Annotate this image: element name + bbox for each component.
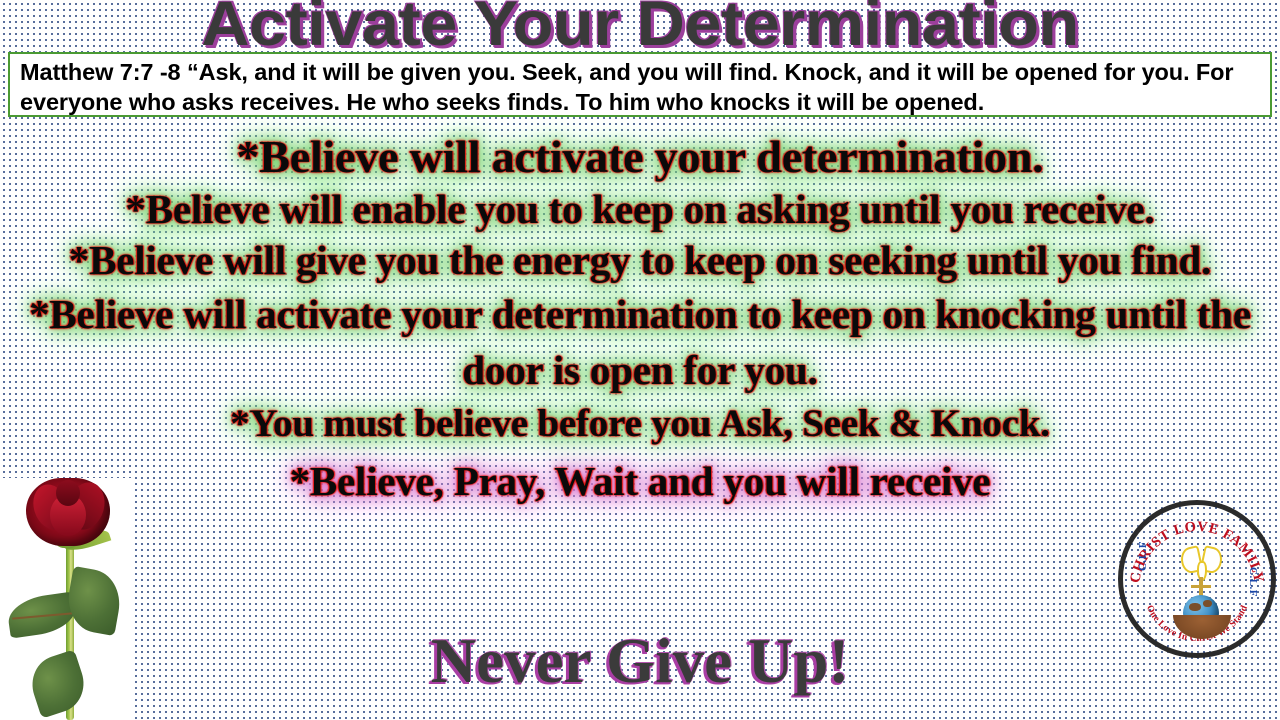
slide-canvas: Activate Your Determination Matthew 7:7 … (0, 0, 1280, 720)
bullet-line-6: *Believe, Pray, Wait and you will receiv… (0, 450, 1280, 512)
logo-inner: CHRIST LOVE FAMILY One Love In Christ We… (1123, 505, 1271, 653)
bullet-line-2: *Believe will enable you to keep on aski… (0, 184, 1280, 235)
rose-bloom (26, 478, 110, 546)
bullet-line-3: *Believe will give you the energy to kee… (0, 235, 1280, 286)
bullet-list: *Believe will activate your determinatio… (0, 130, 1280, 512)
bullet-line-5: *You must believe before you Ask, Seek &… (0, 398, 1280, 450)
closing-statement: Never Give Up! (0, 627, 1280, 695)
logo-abbr-left: C.L.F (1137, 541, 1149, 571)
bullet-line-1: *Believe will activate your determinatio… (0, 130, 1280, 184)
rose-petal (56, 480, 80, 506)
scripture-verse-text: Matthew 7:7 -8 “Ask, and it will be give… (20, 57, 1264, 117)
bullet-line-4: *Believe will activate your determinatio… (0, 286, 1280, 398)
rose-leaf-bottom (25, 649, 92, 718)
cross-bar-icon (1191, 585, 1211, 588)
logo-abbr-right: C.L.F (1247, 567, 1259, 597)
dove-icon (1181, 547, 1223, 581)
page-title: Activate Your Determination (0, 0, 1280, 54)
christ-love-family-logo: CHRIST LOVE FAMILY One Love In Christ We… (1118, 500, 1276, 658)
scripture-verse-box: Matthew 7:7 -8 “Ask, and it will be give… (8, 52, 1272, 117)
rose-image (0, 478, 132, 720)
